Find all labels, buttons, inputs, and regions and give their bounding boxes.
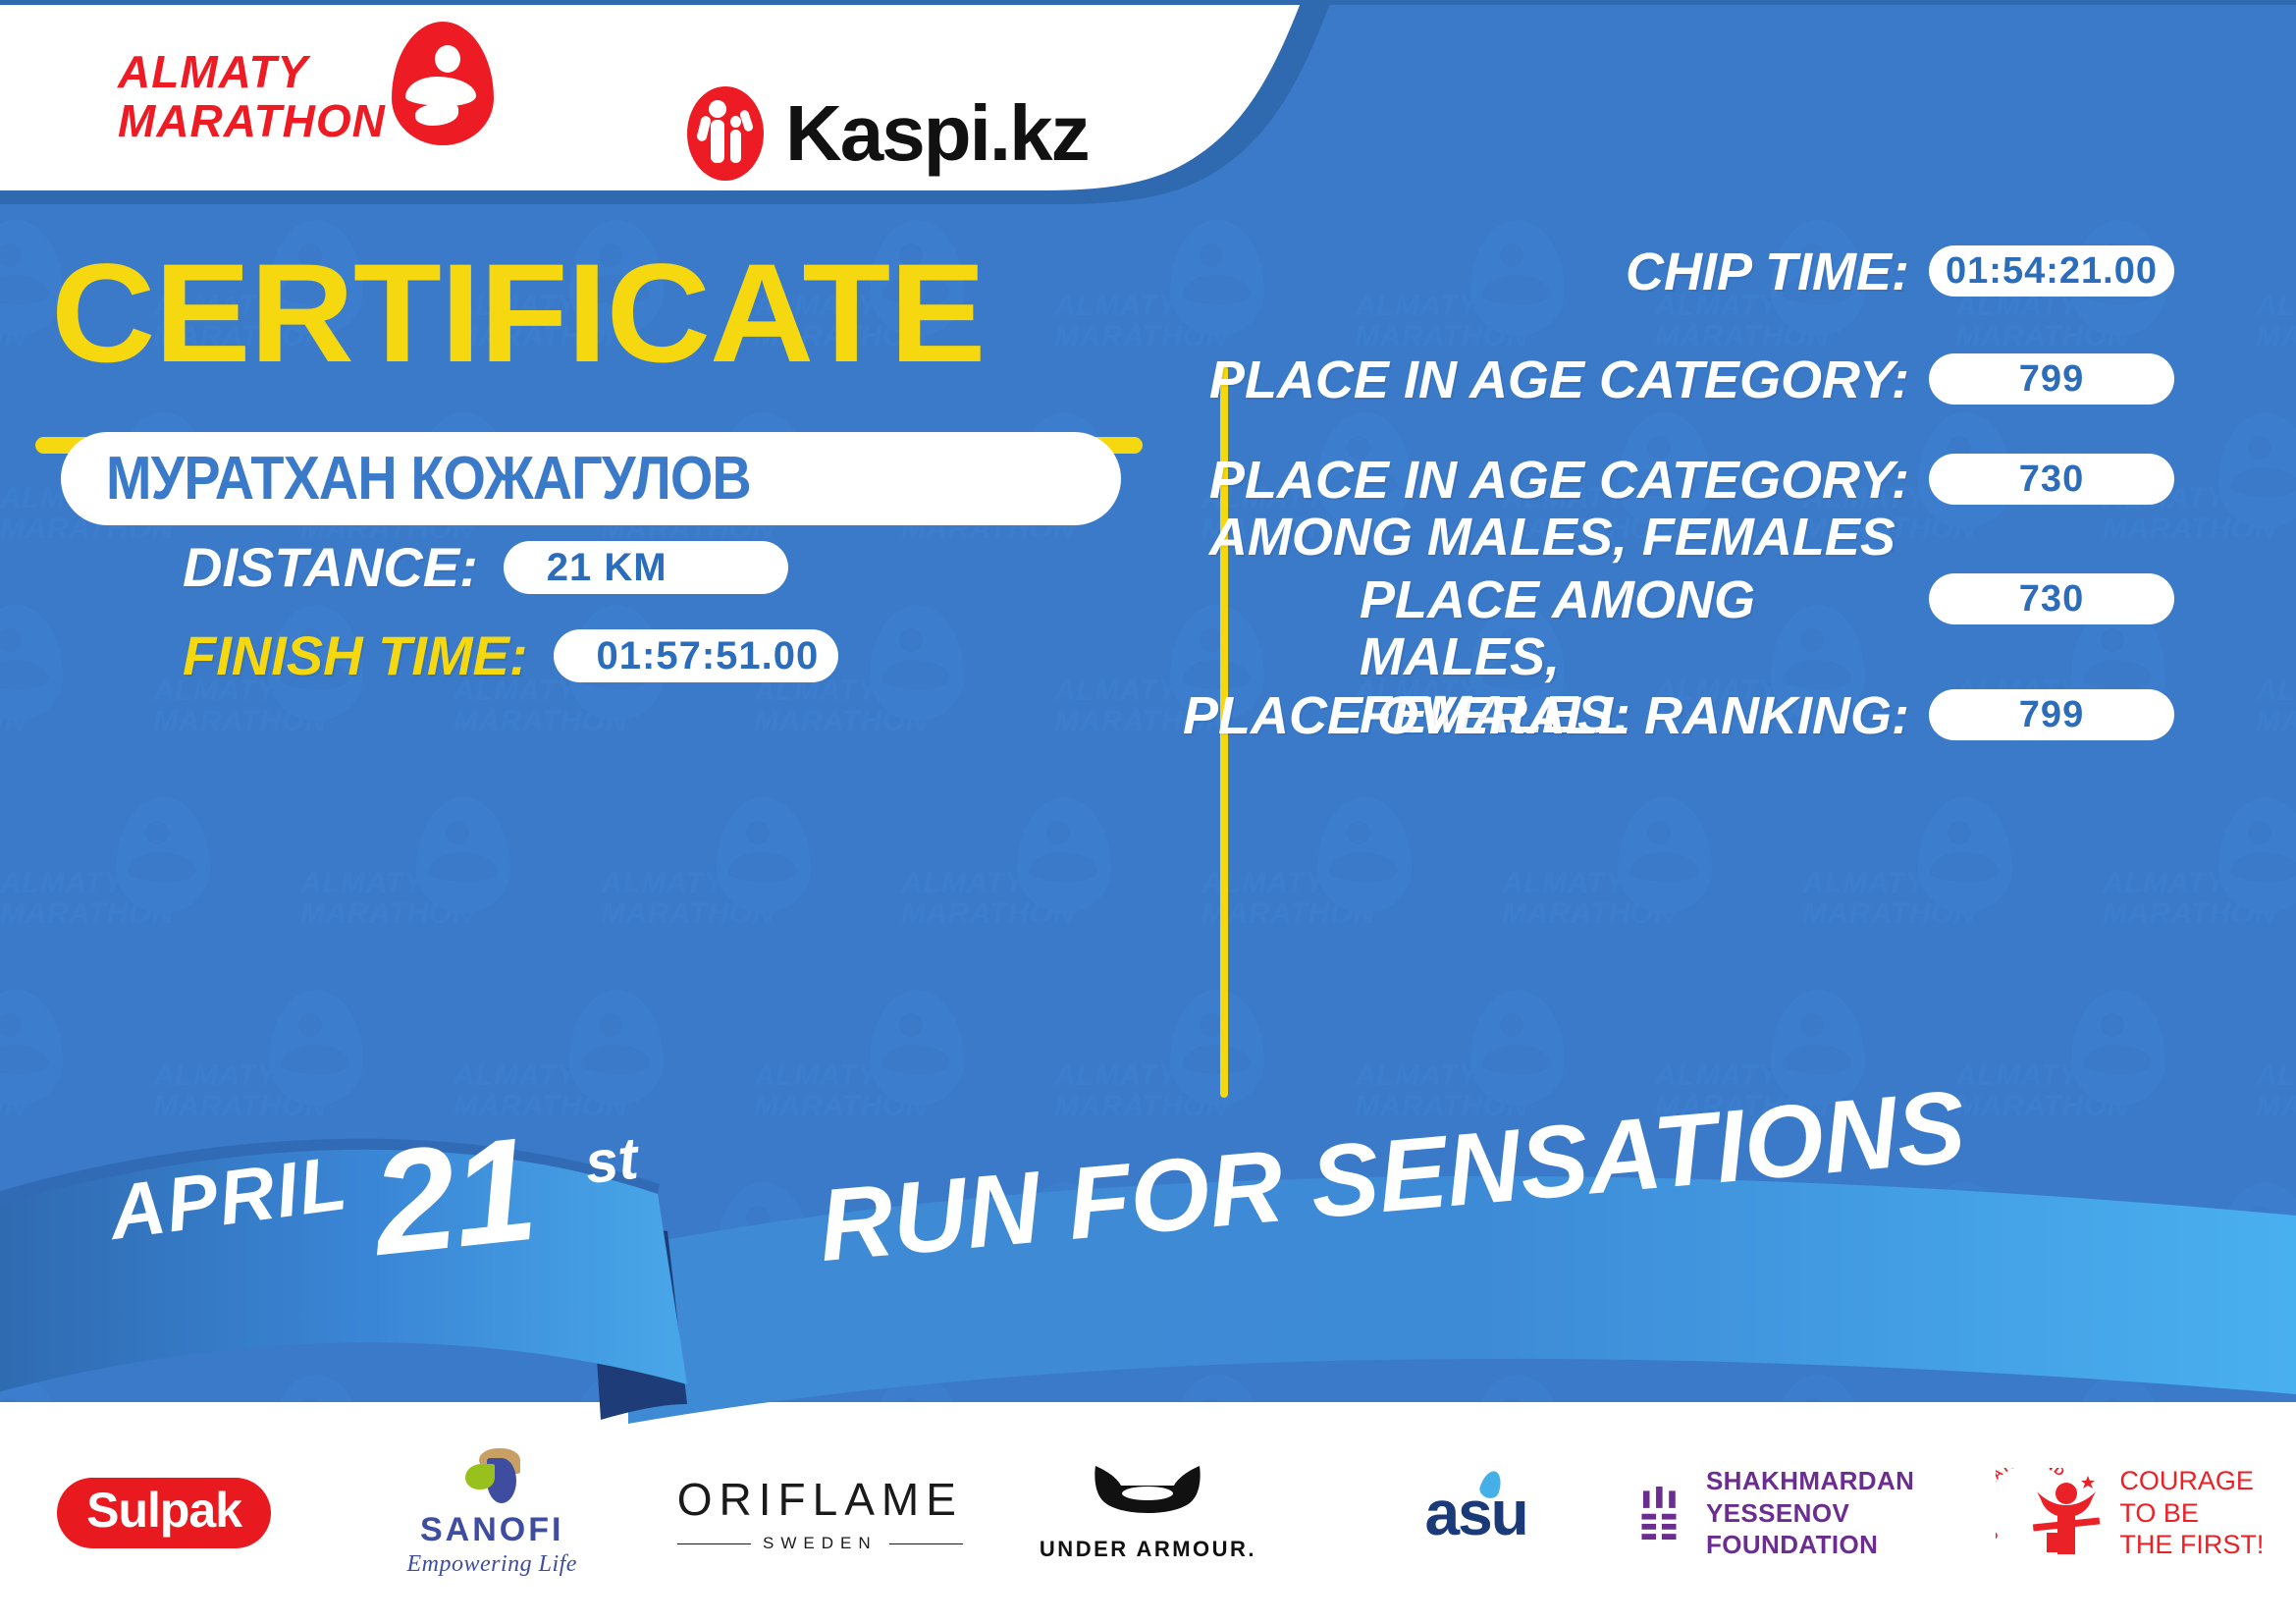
ribbon-day-suffix: st bbox=[582, 1124, 641, 1197]
result-value: 730 bbox=[2019, 580, 2084, 618]
result-label-line1: PLACE AMONG MALES, bbox=[1360, 570, 1755, 686]
athlete-name-field: МУРАТХАН КОЖАГУЛОВ bbox=[61, 432, 1121, 525]
logo-text-line2: MARATHON bbox=[118, 99, 386, 142]
distance-row: DISTANCE: 21 KM bbox=[183, 540, 788, 595]
result-row: PLACE IN AGE CATEGORY: 799 bbox=[1276, 352, 2174, 408]
result-value-pill: 730 bbox=[1929, 573, 2174, 624]
result-row: PLACE OVERALL RANKING: 799 bbox=[1276, 687, 2174, 744]
yessenov-mark-icon bbox=[1640, 1477, 1684, 1549]
page-title: CERTIFICATE bbox=[51, 244, 985, 384]
under-armour-wordmark: UNDER ARMOUR. bbox=[1040, 1537, 1256, 1562]
sponsor-oriflame: ORIFLAME SWEDEN bbox=[656, 1402, 984, 1624]
oriflame-rule-right bbox=[889, 1543, 963, 1544]
result-row: PLACE IN AGE CATEGORY: AMONG MALES, FEMA… bbox=[1276, 452, 2174, 567]
result-label-line2: AMONG MALES, FEMALES bbox=[1209, 509, 1909, 566]
result-value: 01:54:21.00 bbox=[1946, 252, 2158, 290]
sponsor-bar: Sulpak SANOFI Empowering Life ORIFLAME S… bbox=[0, 1402, 2296, 1624]
courage-line2: TO BE bbox=[2119, 1497, 2264, 1530]
yessenov-line2: FOUNDATION bbox=[1706, 1529, 1968, 1561]
finish-time-label: FINISH TIME: bbox=[183, 628, 528, 683]
finish-time-value: 01:57:51.00 bbox=[597, 636, 820, 676]
result-value-pill: 01:54:21.00 bbox=[1929, 245, 2174, 297]
athlete-name-value: МУРАТХАН КОЖАГУЛОВ bbox=[106, 449, 751, 510]
asu-wordmark: asu bbox=[1424, 1478, 1526, 1548]
result-value: 730 bbox=[2019, 460, 2084, 498]
yessenov-line1: SHAKHMARDAN YESSENOV bbox=[1706, 1465, 1968, 1529]
result-label-line1: PLACE IN AGE CATEGORY: bbox=[1209, 351, 1909, 409]
sponsor-yessenov-foundation: SHAKHMARDAN YESSENOV FOUNDATION bbox=[1640, 1402, 1968, 1624]
finish-time-row: FINISH TIME: 01:57:51.00 bbox=[183, 628, 838, 683]
sanofi-mark-icon bbox=[461, 1448, 522, 1505]
sponsor-courage-fund: CORPORATE FUND COURAGE TO BE bbox=[1968, 1402, 2296, 1624]
under-armour-mark-icon bbox=[1090, 1464, 1205, 1529]
courage-mark-icon: CORPORATE FUND bbox=[2000, 1466, 2106, 1560]
result-label-line1: PLACE IN AGE CATEGORY: bbox=[1209, 451, 1909, 510]
courage-line3: THE FIRST! bbox=[2119, 1529, 2264, 1561]
result-label: PLACE IN AGE CATEGORY: bbox=[1209, 352, 1909, 408]
header-panel: ALMATY MARATHON Kaspi.kz bbox=[0, 0, 2296, 196]
oriflame-rule-left bbox=[677, 1543, 751, 1544]
oriflame-subtitle: SWEDEN bbox=[763, 1534, 878, 1553]
result-value: 799 bbox=[2019, 360, 2084, 398]
distance-label: DISTANCE: bbox=[183, 540, 478, 595]
certificate-canvas: ALMATYMARATHONALMATYMARATHONALMATYMARATH… bbox=[0, 0, 2296, 1624]
result-value-pill: 799 bbox=[1929, 353, 2174, 405]
kaspi-logo: Kaspi.kz bbox=[687, 86, 1089, 181]
result-label-line1: CHIP TIME: bbox=[1626, 243, 1909, 301]
courage-line1: COURAGE bbox=[2119, 1465, 2264, 1497]
result-label-line1: PLACE OVERALL RANKING: bbox=[1183, 686, 1909, 745]
sanofi-tagline: Empowering Life bbox=[406, 1551, 577, 1578]
distance-value-pill: 21 KM bbox=[504, 541, 788, 594]
result-label: PLACE IN AGE CATEGORY: AMONG MALES, FEMA… bbox=[1209, 452, 1909, 567]
result-value: 799 bbox=[2019, 696, 2084, 733]
result-label: CHIP TIME: bbox=[1626, 244, 1909, 300]
runner-drop-icon bbox=[392, 22, 494, 145]
result-row: CHIP TIME: 01:54:21.00 bbox=[1276, 244, 2174, 300]
result-value-pill: 730 bbox=[1929, 454, 2174, 505]
oriflame-wordmark: ORIFLAME bbox=[677, 1473, 963, 1526]
finish-time-value-pill: 01:57:51.00 bbox=[554, 629, 838, 682]
sponsor-under-armour: UNDER ARMOUR. bbox=[984, 1402, 1311, 1624]
kaspi-wordmark: Kaspi.kz bbox=[785, 88, 1089, 179]
sponsor-sulpak: Sulpak bbox=[0, 1402, 328, 1624]
left-column: CERTIFICATE МУРАТХАН КОЖАГУЛОВ DISTANCE:… bbox=[0, 196, 1217, 1178]
sulpak-wordmark: Sulpak bbox=[57, 1478, 271, 1548]
sanofi-wordmark: SANOFI bbox=[420, 1511, 563, 1549]
kaspi-mark-icon bbox=[687, 86, 764, 181]
result-value-pill: 799 bbox=[1929, 689, 2174, 740]
sponsor-asu: asu bbox=[1312, 1402, 1640, 1624]
results-column: CHIP TIME: 01:54:21.00 PLACE IN AGE CATE… bbox=[1276, 196, 2296, 1178]
logo-text-line1: ALMATY bbox=[118, 50, 308, 93]
result-label: PLACE OVERALL RANKING: bbox=[1183, 687, 1909, 744]
distance-value: 21 KM bbox=[547, 548, 667, 587]
almaty-marathon-logo: ALMATY MARATHON bbox=[118, 47, 494, 145]
ribbon-day: 21 bbox=[365, 1104, 542, 1289]
sponsor-sanofi: SANOFI Empowering Life bbox=[328, 1402, 656, 1624]
top-border-strip bbox=[0, 0, 2296, 5]
